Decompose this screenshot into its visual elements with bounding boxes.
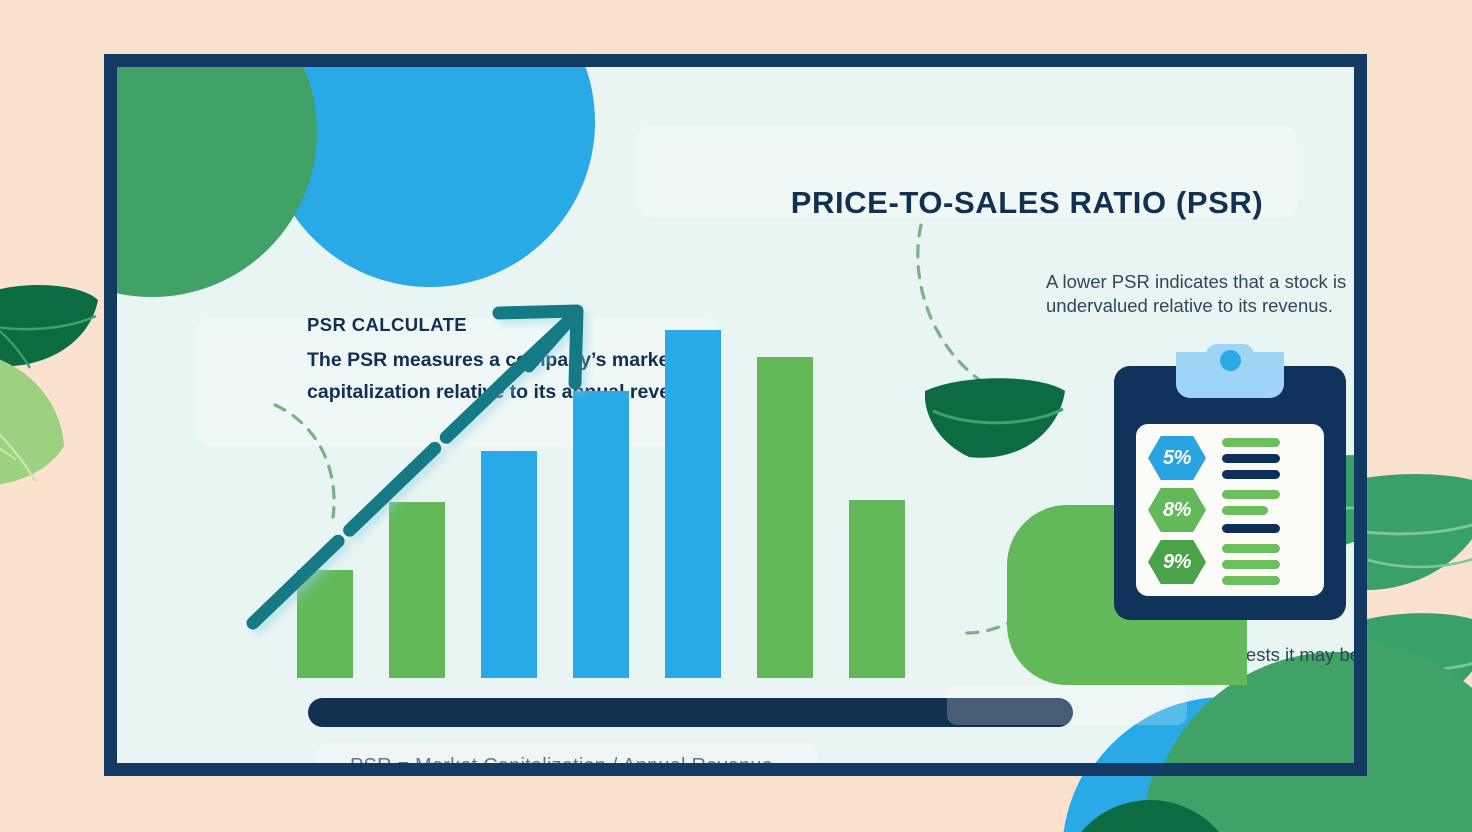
trend-arrow-icon (237, 237, 817, 657)
left-leaf-light (0, 342, 90, 522)
soft-wash-higher (947, 685, 1187, 725)
paper-line (1222, 490, 1280, 499)
dashed-arc-lower-callout (907, 215, 1027, 385)
paper-line (1222, 454, 1280, 463)
badge-percent: 5% (1148, 436, 1206, 480)
paper-line (1222, 524, 1280, 533)
clipboard-illustration: 5% 8% 9% (1114, 352, 1346, 620)
chart-bar (849, 500, 905, 678)
card-canvas: PRICE-TO-SALES RATIO (PSR) PSR CALCULATE… (117, 67, 1354, 763)
bottom-right-dark-green-circle (1060, 800, 1240, 832)
paper-line (1222, 470, 1280, 479)
left-leaf-dark (0, 238, 100, 408)
callout-lower-psr: A lower PSR indicates that a stock is un… (1046, 270, 1354, 317)
badge-percent: 9% (1148, 540, 1206, 584)
infographic-canvas: PRICE-TO-SALES RATIO (PSR) PSR CALCULATE… (0, 0, 1472, 832)
paper-line (1222, 560, 1280, 569)
paper-line (1222, 506, 1268, 515)
paper-line (1222, 576, 1280, 585)
badge-percent: 8% (1148, 488, 1206, 532)
infographic-card: PRICE-TO-SALES RATIO (PSR) PSR CALCULATE… (104, 54, 1367, 776)
paper-line (1222, 544, 1280, 553)
clipboard-clip-ring-icon (1220, 350, 1241, 371)
clipboard-left-leaf (925, 367, 1065, 477)
clipboard-paper: 5% 8% 9% (1136, 424, 1324, 596)
paper-line (1222, 438, 1280, 447)
soft-wash-formula (317, 743, 817, 763)
